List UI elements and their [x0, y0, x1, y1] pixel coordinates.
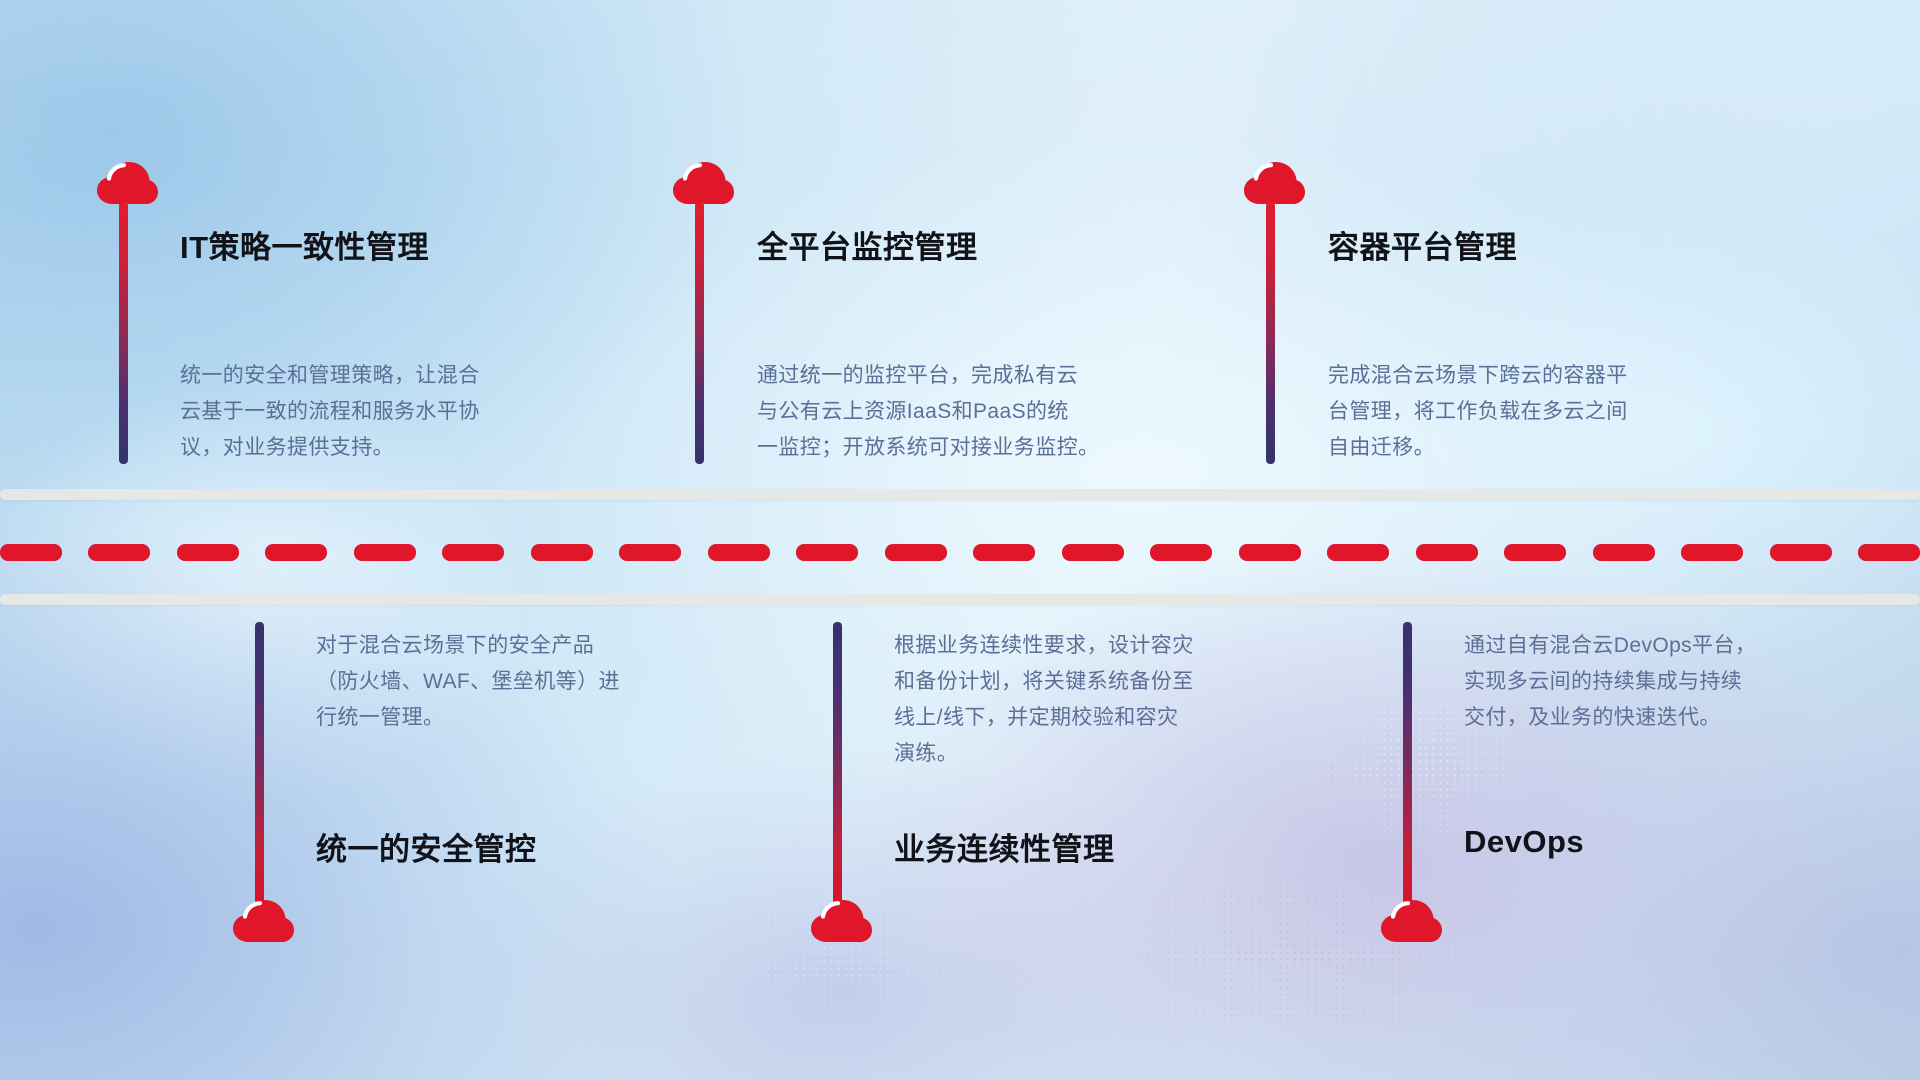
divider-dash — [1416, 544, 1478, 561]
divider-dashed-line — [0, 544, 1920, 562]
body-line: 对于混合云场景下的安全产品 — [316, 628, 620, 664]
panel-title: DevOps — [1464, 824, 1584, 860]
divider-bar-top — [0, 489, 1920, 500]
divider-dash — [1239, 544, 1301, 561]
body-line: 行统一管理。 — [316, 700, 620, 736]
panel-title: IT策略一致性管理 — [180, 222, 429, 267]
body-line: 通过自有混合云DevOps平台， — [1464, 628, 1756, 664]
divider-dash — [88, 544, 150, 561]
panel-title: 统一的安全管控 — [316, 824, 537, 869]
panel-body: 通过统一的监控平台，完成私有云 与公有云上资源IaaS和PaaS的统 一监控；开… — [757, 358, 1099, 466]
divider-dash — [265, 544, 327, 561]
cloud-icon — [96, 160, 158, 206]
divider-dash — [1504, 544, 1566, 561]
panel-body: 通过自有混合云DevOps平台， 实现多云间的持续集成与持续 交付，及业务的快速… — [1464, 628, 1756, 736]
cloud-icon — [1380, 898, 1442, 944]
body-line: 台管理，将工作负载在多云之间 — [1328, 394, 1628, 430]
divider-dash — [1770, 544, 1832, 561]
divider-dash — [973, 544, 1035, 561]
cloud-icon — [672, 160, 734, 206]
divider-dash — [1681, 544, 1743, 561]
body-line: 议，对业务提供支持。 — [180, 430, 480, 466]
body-line: 统一的安全和管理策略，让混合 — [180, 358, 480, 394]
divider-dash — [619, 544, 681, 561]
body-line: 交付，及业务的快速迭代。 — [1464, 700, 1756, 736]
body-line: 线上/线下，并定期校验和容灾 — [894, 700, 1194, 736]
divider-dash — [885, 544, 947, 561]
divider-dash — [1150, 544, 1212, 561]
panel-body: 根据业务连续性要求，设计容灾 和备份计划，将关键系统备份至 线上/线下，并定期校… — [894, 628, 1194, 772]
divider-dash — [1593, 544, 1655, 561]
body-line: 演练。 — [894, 736, 1194, 772]
divider-dash — [442, 544, 504, 561]
body-line: 和备份计划，将关键系统备份至 — [894, 664, 1194, 700]
body-line: 自由迁移。 — [1328, 430, 1628, 466]
panel-title: 业务连续性管理 — [894, 824, 1115, 869]
panel-body: 对于混合云场景下的安全产品 （防火墙、WAF、堡垒机等）进 行统一管理。 — [316, 628, 620, 736]
panel-title: 容器平台管理 — [1328, 222, 1517, 267]
body-line: 完成混合云场景下跨云的容器平 — [1328, 358, 1628, 394]
panel-title: 全平台监控管理 — [757, 222, 978, 267]
divider-dash — [796, 544, 858, 561]
cloud-icon — [232, 898, 294, 944]
body-line: 实现多云间的持续集成与持续 — [1464, 664, 1756, 700]
body-line: （防火墙、WAF、堡垒机等）进 — [316, 664, 620, 700]
divider-dash — [1858, 544, 1920, 561]
divider-dash — [1327, 544, 1389, 561]
divider-dash — [708, 544, 770, 561]
divider-dash — [177, 544, 239, 561]
panel-body: 完成混合云场景下跨云的容器平 台管理，将工作负载在多云之间 自由迁移。 — [1328, 358, 1628, 466]
cloud-icon — [810, 898, 872, 944]
body-line: 云基于一致的流程和服务水平协 — [180, 394, 480, 430]
body-line: 根据业务连续性要求，设计容灾 — [894, 628, 1194, 664]
body-line: 一监控；开放系统可对接业务监控。 — [757, 430, 1099, 466]
divider-dash — [1062, 544, 1124, 561]
body-line: 与公有云上资源IaaS和PaaS的统 — [757, 394, 1099, 430]
divider-bar-bottom — [0, 594, 1920, 605]
divider-dash — [531, 544, 593, 561]
divider-dash — [354, 544, 416, 561]
panel-body: 统一的安全和管理策略，让混合 云基于一致的流程和服务水平协 议，对业务提供支持。 — [180, 358, 480, 466]
body-line: 通过统一的监控平台，完成私有云 — [757, 358, 1099, 394]
divider-dash — [0, 544, 62, 561]
cloud-icon — [1243, 160, 1305, 206]
